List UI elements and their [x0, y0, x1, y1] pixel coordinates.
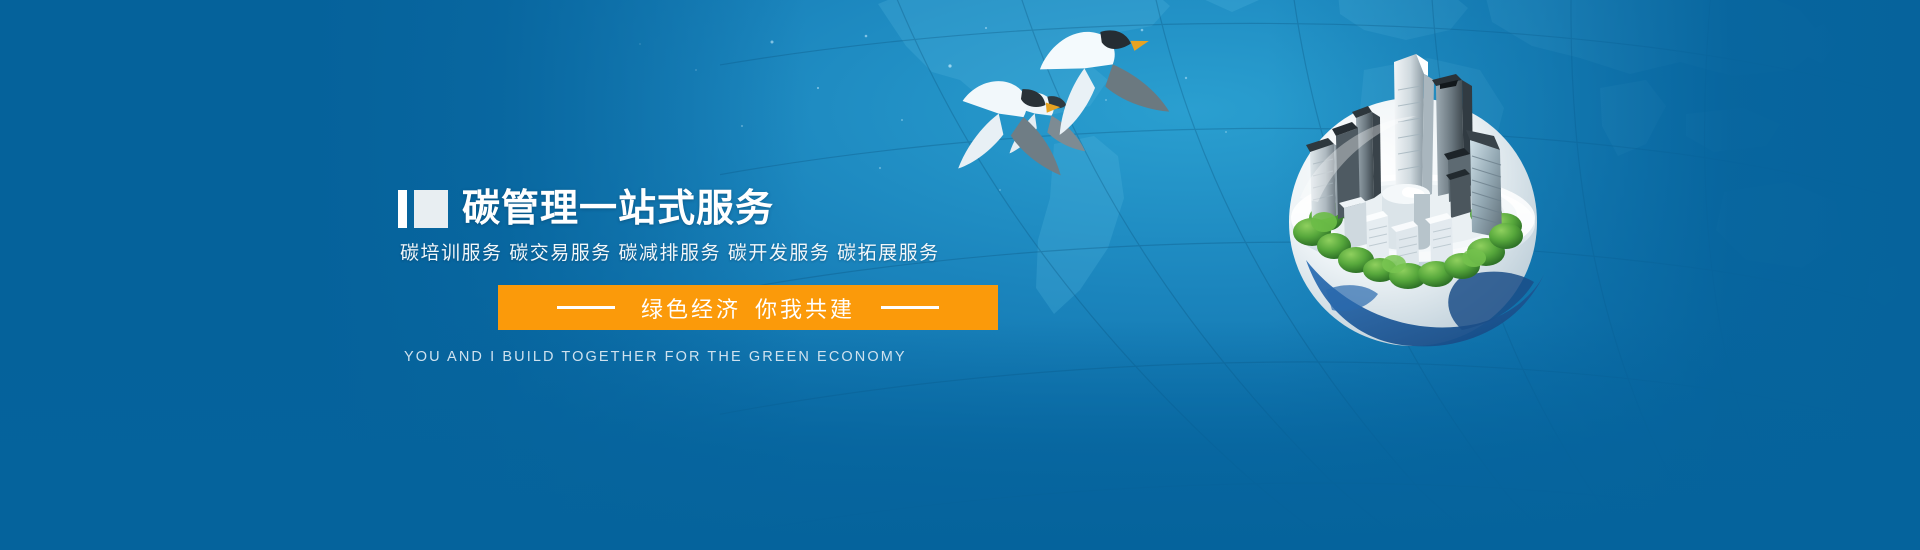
seagull-group [930, 20, 1290, 180]
logo-mark-icon [398, 190, 448, 228]
service-list: 碳培训服务 碳交易服务 碳减排服务 碳开发服务 碳拓展服务 [400, 238, 1038, 265]
slogan-right: 你我共建 [755, 297, 855, 322]
rule-right-icon [881, 306, 939, 309]
globe-city-artwork [1248, 32, 1578, 362]
hero-banner: 碳管理一站式服务 碳培训服务 碳交易服务 碳减排服务 碳开发服务 碳拓展服务 绿… [0, 0, 1920, 550]
logo-square-icon [414, 190, 448, 228]
slogan-bar: 绿色经济你我共建 [498, 285, 998, 330]
slogan-left: 绿色经济 [641, 297, 741, 322]
title-row: 碳管理一站式服务 [398, 186, 1038, 232]
slogan-text: 绿色经济你我共建 [641, 292, 855, 324]
logo-bar-icon [398, 190, 407, 228]
rule-left-icon [557, 306, 615, 309]
english-tagline: YOU AND I BUILD TOGETHER FOR THE GREEN E… [404, 349, 1038, 365]
page-title: 碳管理一站式服务 [462, 188, 774, 230]
banner-copy: 碳管理一站式服务 碳培训服务 碳交易服务 碳减排服务 碳开发服务 碳拓展服务 绿… [398, 186, 1038, 365]
